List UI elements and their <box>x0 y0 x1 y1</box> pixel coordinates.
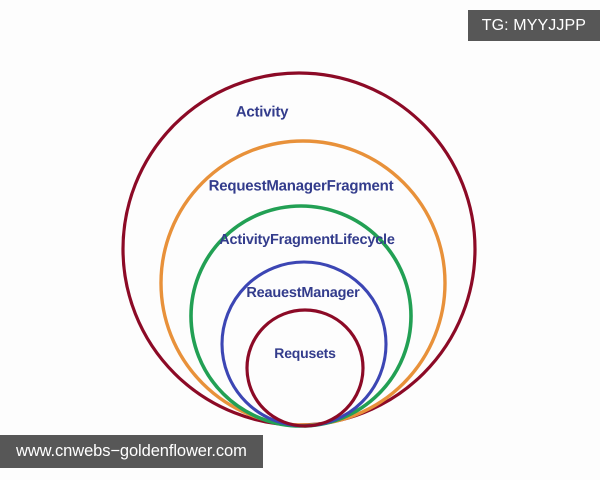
circle-label-activity-fragment-lifecycle: ActivityFragmentLifecycle <box>219 232 395 248</box>
circle-label-request-manager-fragment: RequestManagerFragment <box>209 178 394 195</box>
tg-badge: TG: MYYJJPP <box>468 10 600 41</box>
circle-label-requests: Requsets <box>274 345 335 361</box>
circle-label-activity: Activity <box>236 104 289 121</box>
site-watermark: www.cnwebs−goldenflower.com <box>0 435 263 468</box>
circle-activity <box>123 73 475 425</box>
circle-requests <box>247 310 363 426</box>
screenshot-root: ActivityRequestManagerFragmentActivityFr… <box>0 0 600 480</box>
tg-badge-text: TG: MYYJJPP <box>482 17 586 35</box>
site-watermark-text: www.cnwebs−goldenflower.com <box>16 442 247 461</box>
circle-label-request-manager: ReauestManager <box>246 285 359 301</box>
circle-group <box>123 73 475 426</box>
